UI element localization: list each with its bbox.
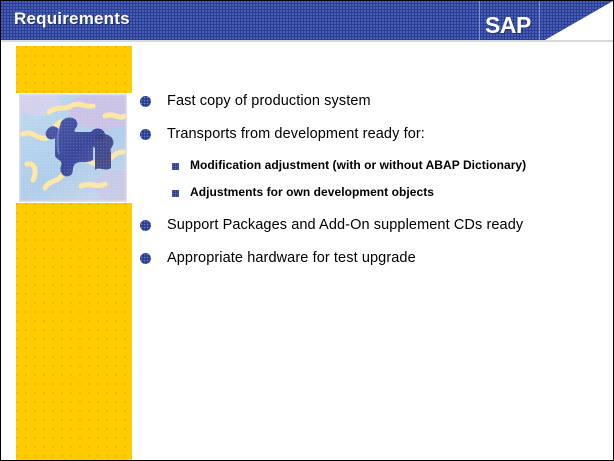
bullet-text: Modification adjustment (with or without… <box>190 157 526 174</box>
bullet-text: Adjustments for own development objects <box>190 184 434 201</box>
bullet-square-icon <box>172 163 179 170</box>
bullet-circle-icon <box>140 96 151 107</box>
bullet-text: Transports from development ready for: <box>167 124 425 145</box>
slide-body-content: Fast copy of production system Transport… <box>140 91 596 281</box>
sap-logo: SAP <box>485 13 531 37</box>
page-title: Requirements <box>14 8 130 29</box>
bullet-circle-icon <box>140 253 151 264</box>
yellow-accent-bar-bottom <box>16 203 132 460</box>
presentation-slide: Requirements SAP <box>0 0 614 461</box>
puzzle-piece-image <box>19 94 127 202</box>
list-item: Support Packages and Add-On supplement C… <box>140 215 596 236</box>
list-item: Appropriate hardware for test upgrade <box>140 248 596 269</box>
header-underline <box>1 40 613 42</box>
list-item: Adjustments for own development objects <box>140 184 596 201</box>
bullet-circle-icon <box>140 129 151 140</box>
bullet-circle-icon <box>140 220 151 231</box>
list-item: Fast copy of production system <box>140 91 596 112</box>
header-divider-line-right <box>539 1 540 40</box>
yellow-accent-bar-top <box>16 46 132 93</box>
bullet-text: Fast copy of production system <box>167 91 371 112</box>
slide-header: Requirements SAP <box>1 1 613 41</box>
bullet-text: Support Packages and Add-On supplement C… <box>167 215 523 236</box>
bullet-text: Appropriate hardware for test upgrade <box>167 248 416 269</box>
bullet-square-icon <box>172 190 179 197</box>
list-item: Transports from development ready for: <box>140 124 596 145</box>
list-item: Modification adjustment (with or without… <box>140 157 596 174</box>
header-divider-line-left <box>479 1 480 40</box>
